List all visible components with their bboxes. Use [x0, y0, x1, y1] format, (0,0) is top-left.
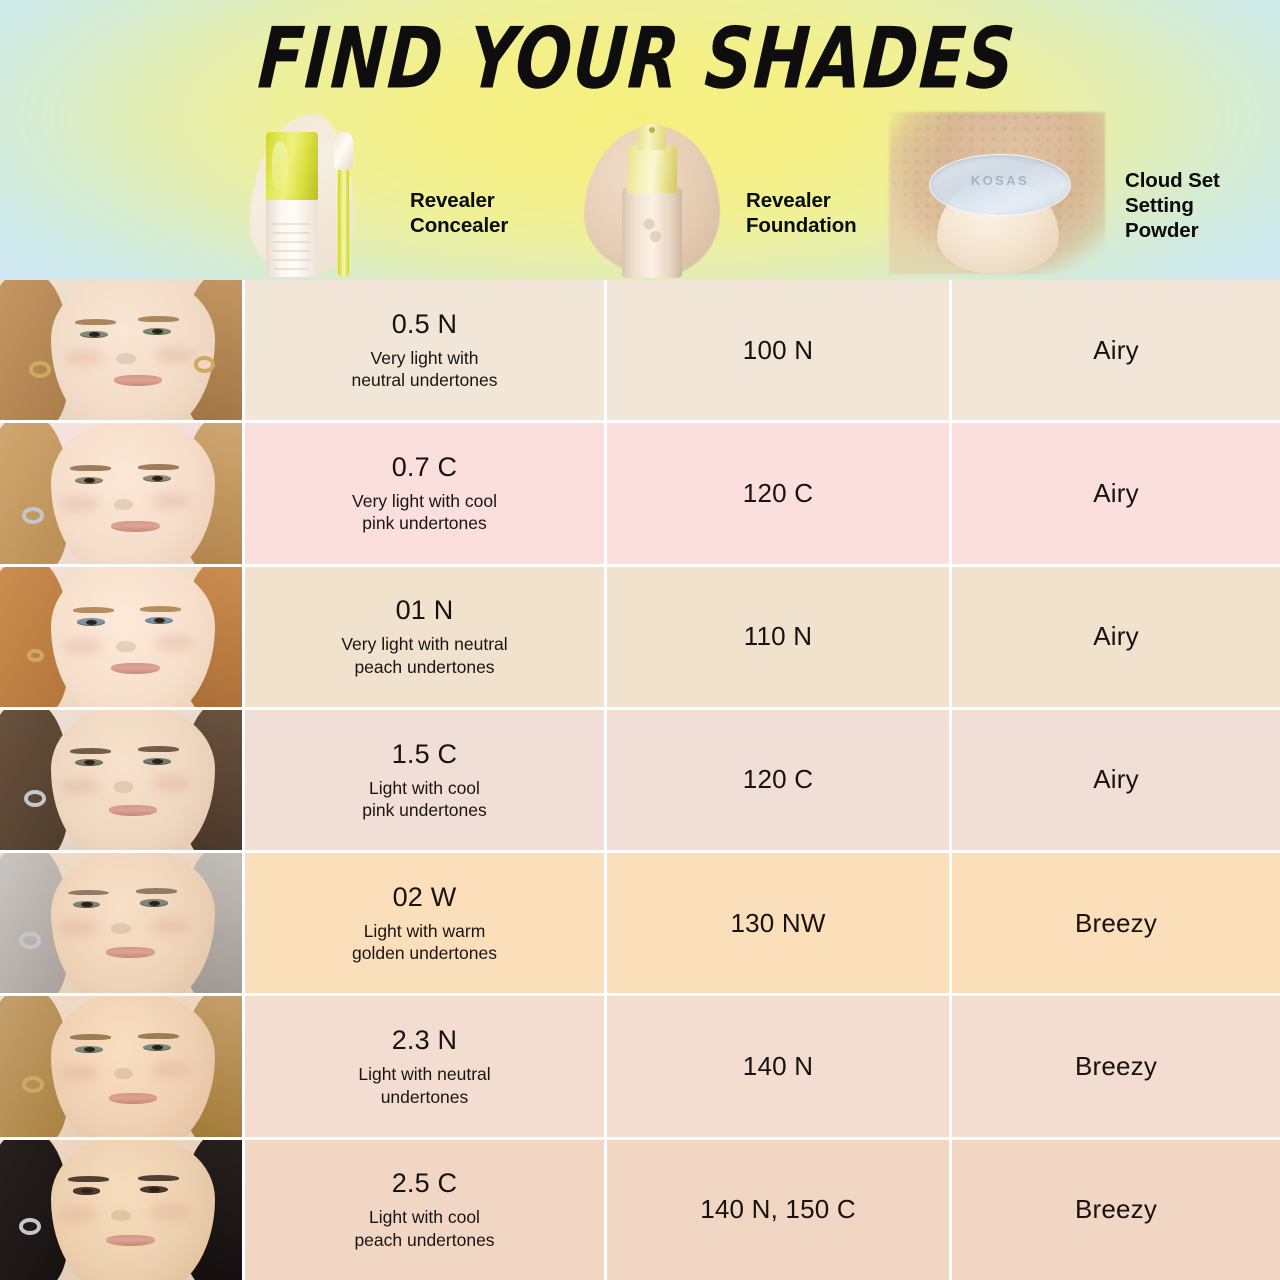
powder-shade-name: Breezy — [1075, 908, 1157, 939]
foundation-bottle-collar — [627, 145, 677, 193]
foundation-shade-code: 120 C — [743, 764, 813, 795]
powder-shade-cell: Breezy — [952, 853, 1280, 993]
eyebrow-left — [68, 1176, 109, 1182]
powder-shade-name: Breezy — [1075, 1051, 1157, 1082]
eyebrow-right — [138, 464, 179, 470]
page-title: FIND YOUR SHADES — [0, 17, 1280, 101]
cheek-left — [63, 638, 102, 653]
lips — [106, 1235, 154, 1246]
powder-shade-name: Breezy — [1075, 1194, 1157, 1225]
concealer-shade-cell: 0.5 N Very light with neutral undertones — [245, 280, 607, 420]
eye-left — [77, 618, 105, 625]
eyebrow-right — [138, 316, 179, 322]
lips — [106, 947, 154, 958]
product-label-revealer-concealer: Revealer Concealer — [410, 188, 508, 238]
eyebrow-left — [70, 1034, 111, 1040]
shade-match-table: 0.5 N Very light with neutral undertones… — [0, 280, 1280, 1280]
model-photo — [0, 567, 245, 707]
foundation-shade-cell: 100 N — [607, 280, 952, 420]
table-row: 0.5 N Very light with neutral undertones… — [0, 280, 1280, 423]
cheek-right — [150, 918, 189, 933]
concealer-shade-cell: 01 N Very light with neutral peach under… — [245, 567, 607, 707]
concealer-shade-description: Light with neutral undertones — [358, 1063, 490, 1108]
nose — [111, 1210, 130, 1221]
foundation-shade-code: 120 C — [743, 478, 813, 509]
foundation-shade-cell: 110 N — [607, 567, 952, 707]
powder-compact-icon: KOSAS — [885, 112, 1115, 277]
nose — [114, 781, 133, 792]
eye-right — [140, 899, 168, 906]
cheek-left — [61, 779, 100, 794]
foundation-shade-code: 110 N — [744, 621, 812, 652]
foundation-shade-code: 140 N — [743, 1051, 813, 1082]
brand-mark: KOSAS — [930, 173, 1070, 188]
eyebrow-right — [138, 1175, 179, 1181]
eyebrow-right — [138, 746, 179, 752]
earring-left — [22, 1076, 44, 1093]
eye-left — [73, 1187, 101, 1194]
lips — [109, 805, 157, 816]
cheek-left — [58, 920, 97, 935]
concealer-shade-code: 1.5 C — [392, 739, 458, 770]
lips — [111, 663, 159, 674]
concealer-shade-description: Very light with neutral peach undertones — [341, 633, 507, 678]
eyebrow-right — [140, 606, 181, 612]
cheek-right — [155, 347, 194, 362]
eyebrow-right — [138, 1033, 179, 1039]
foundation-shade-cell: 140 N — [607, 996, 952, 1136]
concealer-logo-mark — [272, 218, 310, 270]
cheek-right — [152, 493, 191, 508]
model-photo — [0, 423, 245, 563]
eyebrow-left — [70, 465, 111, 471]
model-photo — [0, 996, 245, 1136]
table-row: 1.5 C Light with cool pink undertones 12… — [0, 710, 1280, 853]
powder-shade-cell: Airy — [952, 280, 1280, 420]
concealer-tube-icon — [246, 112, 396, 277]
face — [51, 567, 216, 707]
foundation-shade-code: 100 N — [743, 335, 813, 366]
model-photo — [0, 1140, 245, 1280]
product-cloud-set-setting-powder: KOSAS Cloud Set Setting Powder — [885, 112, 1220, 277]
powder-shade-cell: Airy — [952, 710, 1280, 850]
concealer-shade-cell: 0.7 C Very light with cool pink underton… — [245, 423, 607, 563]
powder-compact-lid: KOSAS — [929, 154, 1071, 216]
powder-shade-cell: Breezy — [952, 1140, 1280, 1280]
earring-left — [27, 649, 44, 662]
foundation-shade-cell: 130 NW — [607, 853, 952, 993]
concealer-shade-cell: 1.5 C Light with cool pink undertones — [245, 710, 607, 850]
earring-left — [19, 932, 41, 949]
foundation-shade-cell: 120 C — [607, 710, 952, 850]
nose — [116, 641, 135, 652]
model-photo — [0, 853, 245, 993]
foundation-shade-cell: 140 N, 150 C — [607, 1140, 952, 1280]
concealer-wand-tip — [334, 132, 353, 170]
concealer-tube-cap — [266, 132, 318, 200]
eyebrow-left — [68, 890, 109, 896]
concealer-shade-code: 2.5 C — [392, 1168, 458, 1199]
eyebrow-left — [73, 607, 114, 613]
powder-shade-cell: Breezy — [952, 996, 1280, 1136]
lips — [109, 1093, 157, 1104]
concealer-shade-description: Light with cool pink undertones — [362, 777, 487, 822]
foundation-shade-code: 140 N, 150 C — [700, 1194, 856, 1225]
product-revealer-concealer: Revealer Concealer — [246, 112, 508, 277]
foundation-pump-cap — [638, 124, 666, 150]
eye-right — [143, 758, 171, 765]
earring-left — [22, 507, 44, 524]
model-photo — [0, 710, 245, 850]
product-revealer-foundation: Revealer Foundation — [578, 112, 857, 277]
eyebrow-right — [136, 888, 177, 894]
lips — [111, 521, 159, 532]
concealer-shade-description: Light with cool peach undertones — [354, 1206, 494, 1251]
eye-left — [80, 331, 108, 338]
earring-right — [194, 356, 216, 373]
foundation-bottle-body — [622, 188, 682, 278]
powder-shade-name: Airy — [1093, 478, 1139, 509]
earring-left — [24, 790, 46, 807]
find-your-shades-chart: FIND YOUR SHADES Revealer Concealer Reve… — [0, 0, 1280, 1280]
cheek-left — [61, 1065, 100, 1080]
earring-left — [29, 361, 51, 378]
powder-shade-name: Airy — [1093, 621, 1139, 652]
product-label-revealer-foundation: Revealer Foundation — [746, 188, 857, 238]
eyebrow-left — [75, 319, 116, 325]
cheek-right — [152, 1062, 191, 1077]
concealer-shade-code: 0.5 N — [392, 309, 458, 340]
cheek-left — [65, 350, 104, 365]
nose — [114, 1068, 133, 1079]
table-row: 0.7 C Very light with cool pink underton… — [0, 423, 1280, 566]
powder-shade-cell: Airy — [952, 567, 1280, 707]
table-row: 02 W Light with warm golden undertones 1… — [0, 853, 1280, 996]
face — [51, 423, 216, 563]
concealer-shade-code: 01 N — [396, 595, 454, 626]
concealer-shade-description: Very light with cool pink undertones — [352, 490, 497, 535]
eye-left — [75, 477, 103, 484]
foundation-bottle-icon — [578, 112, 738, 277]
nose — [114, 499, 133, 510]
concealer-shade-cell: 02 W Light with warm golden undertones — [245, 853, 607, 993]
foundation-shade-code: 130 NW — [730, 908, 825, 939]
chart-header: FIND YOUR SHADES Revealer Concealer Reve… — [0, 0, 1280, 280]
concealer-shade-code: 02 W — [393, 882, 457, 913]
nose — [116, 353, 135, 364]
model-photo — [0, 280, 245, 420]
nose — [111, 923, 130, 934]
concealer-shade-description: Very light with neutral undertones — [352, 347, 498, 392]
concealer-shade-cell: 2.3 N Light with neutral undertones — [245, 996, 607, 1136]
powder-shade-cell: Airy — [952, 423, 1280, 563]
concealer-shade-cell: 2.5 C Light with cool peach undertones — [245, 1140, 607, 1280]
concealer-shade-code: 2.3 N — [392, 1025, 458, 1056]
cheek-left — [61, 496, 100, 511]
eye-right — [143, 328, 171, 335]
table-row: 2.3 N Light with neutral undertones 140 … — [0, 996, 1280, 1139]
eyebrow-left — [70, 748, 111, 754]
product-label-cloud-set-setting-powder: Cloud Set Setting Powder — [1125, 168, 1220, 243]
cheek-right — [150, 1204, 189, 1219]
cheek-right — [155, 635, 194, 650]
powder-shade-name: Airy — [1093, 335, 1139, 366]
concealer-shade-code: 0.7 C — [392, 452, 458, 483]
table-row: 2.5 C Light with cool peach undertones 1… — [0, 1140, 1280, 1280]
concealer-shade-description: Light with warm golden undertones — [352, 920, 497, 965]
lips — [114, 375, 162, 386]
table-row: 01 N Very light with neutral peach under… — [0, 567, 1280, 710]
foundation-shade-cell: 120 C — [607, 423, 952, 563]
powder-shade-name: Airy — [1093, 764, 1139, 795]
eye-left — [75, 1046, 103, 1053]
